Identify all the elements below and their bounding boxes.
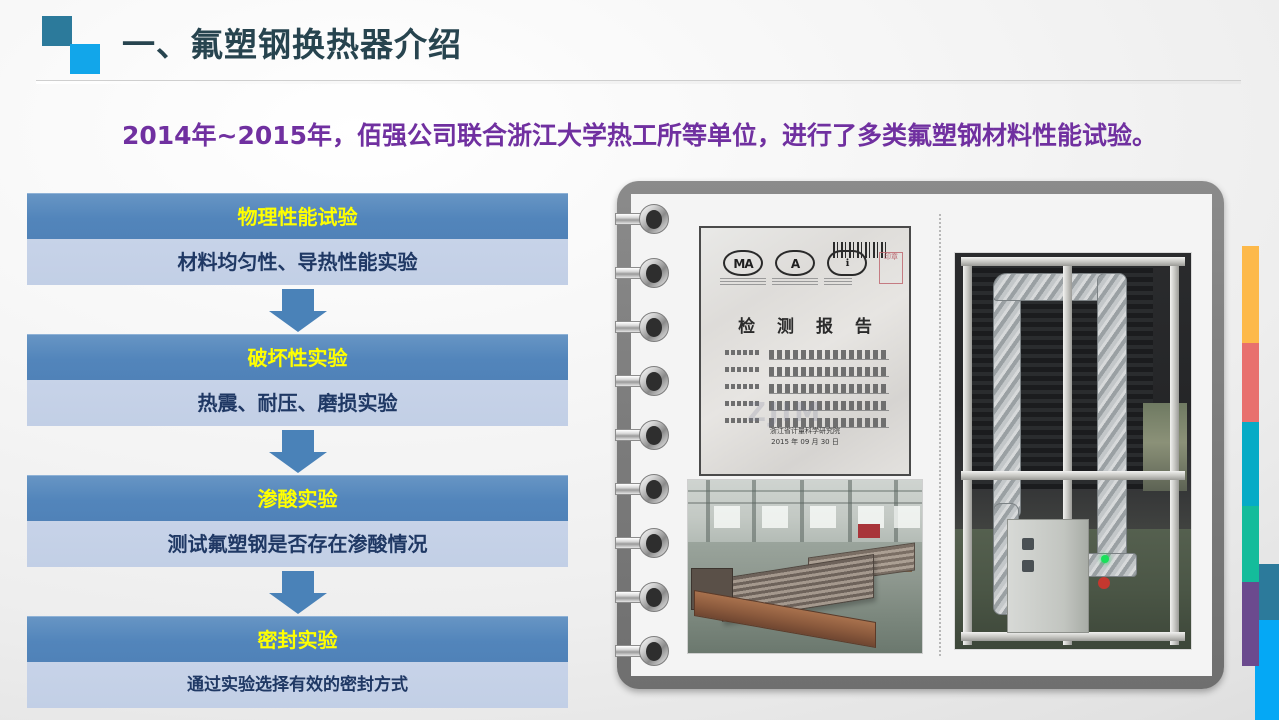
binder-ring-icon [615, 636, 671, 666]
logo-caption-lines [824, 278, 852, 287]
notebook-page: MA A ℹ 印章 检 测 报 告 [631, 194, 1212, 676]
column-divider [939, 214, 943, 656]
cabinet-knob-icon [1022, 560, 1034, 572]
color-segment-cyan [1242, 422, 1259, 506]
rig-frame-post-right [1170, 257, 1179, 645]
binder-ring-icon [615, 204, 671, 234]
flow-step-4-description: 通过实验选择有效的密封方式 [27, 662, 568, 708]
color-segment-salmon [1242, 343, 1259, 422]
flow-step-4-title: 密封实验 [27, 616, 568, 662]
flow-step-2: 破坏性实验 热震、耐压、磨损实验 [27, 334, 568, 426]
certificate-issuer: 浙江省计量科学研究院 2015 年 09 月 30 日 [701, 426, 909, 448]
certificate-issuer-name: 浙江省计量科学研究院 [701, 426, 909, 437]
binder-ring-icon [615, 474, 671, 504]
flow-step-1-description: 材料均匀性、导热性能实验 [27, 239, 568, 285]
rig-frame-beam-top [961, 257, 1185, 266]
binder-ring-icon [615, 258, 671, 288]
thermal-test-rig-photo [954, 252, 1192, 650]
photo-notebook-panel: MA A ℹ 印章 检 测 报 告 [617, 181, 1224, 689]
color-accent-strip [1242, 246, 1259, 666]
flow-arrow-3-icon [268, 571, 328, 615]
emergency-stop-icon [1098, 577, 1110, 589]
certificate-field-row [725, 380, 889, 397]
binder-ring-icon [615, 312, 671, 342]
binder-ring-icon [615, 366, 671, 396]
presentation-slide: 一、氟塑钢换热器介绍 2014年~2015年，佰强公司联合浙江大学热工所等单位，… [0, 0, 1279, 720]
factory-tube-bundle-photo [687, 479, 923, 654]
flow-step-3-description: 测试氟塑钢是否存在渗酸情况 [27, 521, 568, 567]
certificate-watermark: ZJIM [747, 398, 823, 428]
insulated-duct-left-vertical [993, 287, 1021, 519]
certificate-issuer-date: 2015 年 09 月 30 日 [701, 437, 909, 448]
notebook-content-area: MA A ℹ 印章 检 测 报 告 [681, 208, 1198, 662]
factory-ceiling [688, 480, 922, 542]
right-photo-column [949, 208, 1197, 662]
status-led-icon [1101, 555, 1109, 563]
test-report-photo: MA A ℹ 印章 检 测 报 告 [699, 226, 911, 476]
left-photo-column: MA A ℹ 印章 检 测 报 告 [681, 208, 929, 662]
spiral-binding-rings [615, 204, 671, 666]
flow-step-2-description: 热震、耐压、磨损实验 [27, 380, 568, 426]
rig-control-cabinet [1007, 519, 1089, 633]
certificate-title: 检 测 报 告 [701, 312, 909, 337]
logo-caption-lines [772, 278, 818, 287]
flow-step-3: 渗酸实验 测试氟塑钢是否存在渗酸情况 [27, 475, 568, 567]
page-title: 一、氟塑钢换热器介绍 [122, 18, 462, 66]
rig-frame-beam-mid [961, 471, 1185, 480]
logo-square-bottom-icon [70, 44, 100, 74]
certificate-field-row [725, 346, 889, 363]
logo-caption-lines [720, 278, 766, 287]
flow-step-2-title: 破坏性实验 [27, 334, 568, 380]
flow-step-3-title: 渗酸实验 [27, 475, 568, 521]
header-logo [40, 16, 108, 74]
experiment-flow-chart: 物理性能试验 材料均匀性、导热性能实验 破坏性实验 热震、耐压、磨损实验 渗酸实… [27, 193, 568, 695]
flow-arrow-2-icon [268, 430, 328, 474]
binder-ring-icon [615, 420, 671, 450]
cabinet-knob-icon [1022, 538, 1034, 550]
flow-step-1-title: 物理性能试验 [27, 193, 568, 239]
factory-forklift [858, 524, 880, 538]
binder-ring-icon [615, 528, 671, 558]
title-divider [36, 80, 1241, 84]
red-seal-stamp-icon: 印章 [879, 252, 903, 284]
slide-subtitle: 2014年~2015年，佰强公司联合浙江大学热工所等单位，进行了多类氟塑钢材料性… [0, 116, 1279, 152]
logo-square-top-icon [42, 16, 72, 46]
flow-step-1: 物理性能试验 材料均匀性、导热性能实验 [27, 193, 568, 285]
certificate-field-row [725, 363, 889, 380]
binder-ring-icon [615, 582, 671, 612]
flow-step-4: 密封实验 通过实验选择有效的密封方式 [27, 616, 568, 708]
rig-frame-post-left [963, 257, 972, 645]
color-segment-orange [1242, 246, 1259, 343]
cma-logo-icon: A [775, 250, 815, 276]
rig-frame-beam-bottom [961, 632, 1185, 641]
ma-logo-icon: MA [723, 250, 763, 276]
flow-arrow-1-icon [268, 289, 328, 333]
insulated-duct-right-vertical [1097, 273, 1127, 575]
color-segment-purple [1242, 582, 1259, 666]
color-segment-teal [1242, 506, 1259, 582]
